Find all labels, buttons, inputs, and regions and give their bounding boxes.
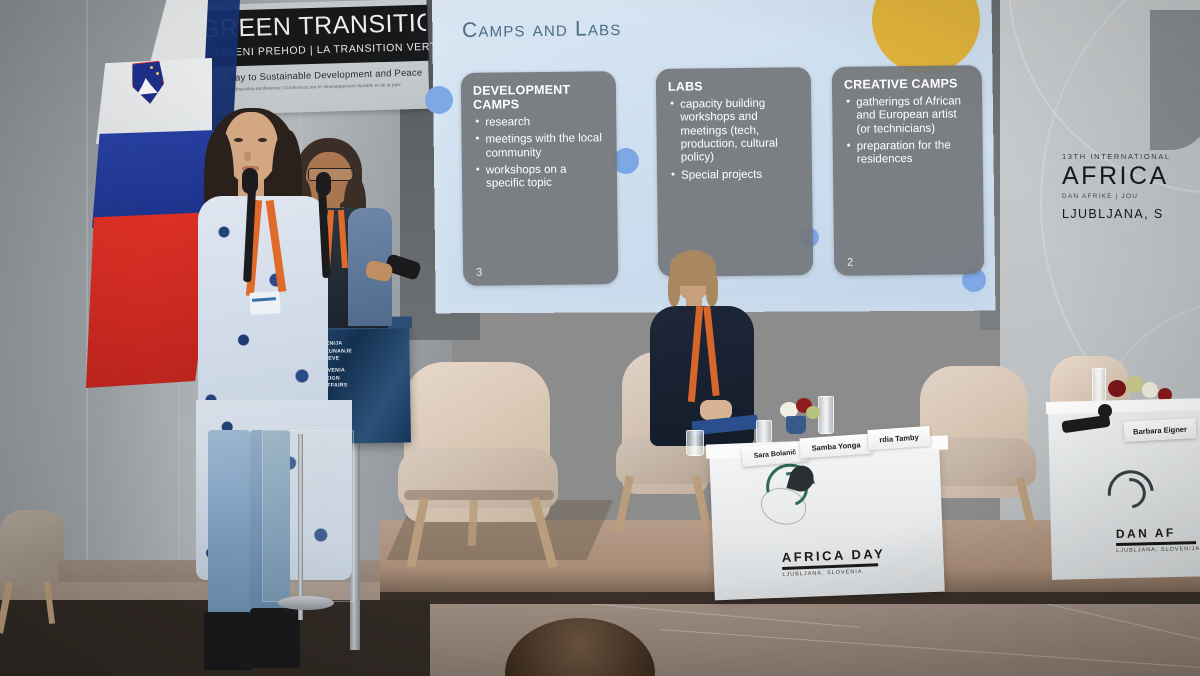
flower-red bbox=[1108, 380, 1126, 397]
microphone-head bbox=[242, 168, 258, 194]
flower-vase bbox=[786, 416, 806, 434]
speaker1-boot-right bbox=[250, 608, 300, 668]
railing-post bbox=[298, 434, 303, 620]
card-bullet: gatherings of African and European artis… bbox=[855, 95, 972, 136]
card-bullet: preparation for the residences bbox=[856, 139, 973, 167]
flag-slovenia-red-band bbox=[86, 212, 216, 388]
card-bullets: capacity building workshops and meetings… bbox=[668, 97, 802, 183]
water-glass bbox=[756, 420, 772, 444]
glass-railing bbox=[262, 430, 354, 602]
water-glass bbox=[686, 430, 704, 456]
slide-card-development-camps: DEVELOPMENT CAMPS research meetings with… bbox=[461, 71, 619, 286]
speaker1-badge bbox=[249, 291, 280, 315]
coat-star bbox=[156, 72, 159, 75]
table-branding: AFRICA DAY LJUBLJANA, SLOVENIA bbox=[782, 546, 886, 578]
dan-afrike-logo bbox=[1103, 469, 1174, 533]
eyeglasses-lens bbox=[1098, 404, 1112, 418]
foreground-chair-back bbox=[12, 516, 64, 562]
slide-card-labs: LABS capacity building workshops and mee… bbox=[656, 67, 814, 277]
card-page-number: 2 bbox=[847, 257, 853, 269]
wall-branding-title: AFRICA bbox=[1062, 162, 1200, 191]
africa-day-logo bbox=[759, 461, 823, 523]
card-heading: LABS bbox=[668, 78, 801, 94]
speaker1-boot-left bbox=[204, 612, 252, 670]
card-bullets: gatherings of African and European artis… bbox=[844, 95, 973, 167]
flower-white bbox=[1142, 382, 1158, 398]
table2-branding: DAN AF LJUBLJANA, SLOVENIJA bbox=[1116, 525, 1200, 554]
card-bullet: research bbox=[484, 115, 606, 130]
card-bullet: workshops on a specific topic bbox=[485, 163, 607, 191]
coat-star bbox=[150, 66, 153, 69]
card-page-number: 3 bbox=[476, 267, 482, 279]
slide-card-creative-camps: CREATIVE CAMPS gatherings of African and… bbox=[832, 65, 985, 276]
wall-decor-shape bbox=[1150, 10, 1200, 150]
conference-stage-photo: 13TH INTERNATIONAL AFRICA DAN AFRIKE | J… bbox=[0, 0, 1200, 676]
table2-branding-title: DAN AF bbox=[1116, 525, 1200, 541]
card-bullet: meetings with the local community bbox=[484, 133, 606, 161]
speaker1-nose bbox=[244, 152, 251, 161]
wall-branding: 13TH INTERNATIONAL AFRICA DAN AFRIKE | J… bbox=[1062, 152, 1200, 221]
panel-table bbox=[709, 444, 945, 601]
wall-branding-city: LJUBLJANA, S bbox=[1062, 207, 1200, 221]
table-branding-title: AFRICA DAY bbox=[782, 546, 886, 565]
speaker2-eyeglasses bbox=[308, 168, 354, 181]
slide-title: Camps and Labs bbox=[462, 17, 622, 43]
flower-green bbox=[806, 406, 820, 419]
panelist-hair bbox=[706, 272, 718, 306]
card-bullet: Special projects bbox=[680, 168, 802, 183]
card-bullet: capacity building workshops and meetings… bbox=[679, 97, 802, 165]
water-bottle bbox=[1092, 368, 1106, 402]
railing-base bbox=[278, 596, 334, 610]
nameplate-barbara-eigner: Barbara Eigner bbox=[1124, 418, 1197, 442]
microphone-head bbox=[316, 172, 331, 196]
card-heading: CREATIVE CAMPS bbox=[844, 76, 972, 92]
panelist-hair bbox=[668, 272, 680, 306]
wall-branding-sub: DAN AFRIKE | JOU bbox=[1062, 193, 1200, 200]
speaker1-jeans-left bbox=[208, 430, 250, 620]
speaker1-eye bbox=[234, 138, 243, 142]
slide-decor-blue-circle bbox=[425, 86, 453, 114]
wall-branding-edition: 13TH INTERNATIONAL bbox=[1062, 152, 1171, 161]
speaker1-eye bbox=[258, 138, 267, 142]
card-bullets: research meetings with the local communi… bbox=[473, 115, 607, 191]
water-bottle bbox=[818, 396, 834, 434]
card-heading: DEVELOPMENT CAMPS bbox=[473, 82, 606, 112]
